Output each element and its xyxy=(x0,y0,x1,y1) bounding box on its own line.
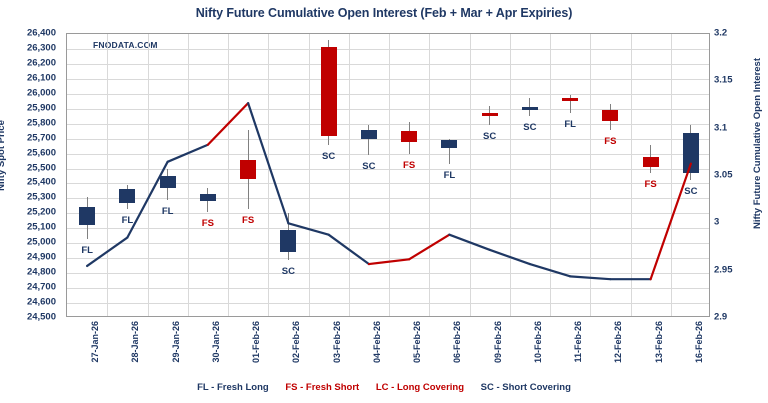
y-axis-tick-label: 24,900 xyxy=(27,252,56,263)
left-axis-title: Nifty Spot Price xyxy=(0,120,7,191)
x-axis-tick-label: 29-Jan-26 xyxy=(171,321,181,363)
y-axis-tick-label: 25,600 xyxy=(27,147,56,158)
oi-line-series xyxy=(67,34,711,318)
y-axis-tick-label: 25,000 xyxy=(27,237,56,248)
x-axis-tick-label: 09-Feb-26 xyxy=(493,321,503,363)
y2-axis-tick-label: 2.9 xyxy=(714,312,727,323)
x-axis-tick-label: 03-Feb-26 xyxy=(332,321,342,363)
chart-root: Nifty Future Cumulative Open Interest (F… xyxy=(0,0,768,403)
chart-legend: FL - Fresh Long FS - Fresh Short LC - Lo… xyxy=(0,382,768,393)
x-axis-tick-label: 01-Feb-26 xyxy=(251,321,261,363)
y-axis-tick-label: 26,300 xyxy=(27,42,56,53)
x-axis-tick-label: 04-Feb-26 xyxy=(372,321,382,363)
x-axis-tick-label: 02-Feb-26 xyxy=(291,321,301,363)
y-axis-tick-label: 25,300 xyxy=(27,192,56,203)
y-axis-tick-label: 24,800 xyxy=(27,267,56,278)
legend-item-fs: FS - Fresh Short xyxy=(285,382,359,393)
y-axis-tick-label: 26,400 xyxy=(27,28,56,39)
y-axis-tick-label: 25,400 xyxy=(27,177,56,188)
plot-area: FNODATA.COM FLFLFLFSFSSCSCSCFSFLSCSCFLFS… xyxy=(66,33,710,317)
y-axis-tick-label: 25,900 xyxy=(27,102,56,113)
y2-axis-tick-label: 2.95 xyxy=(714,264,733,275)
legend-item-lc: LC - Long Covering xyxy=(376,382,464,393)
y-axis-tick-label: 25,700 xyxy=(27,132,56,143)
x-axis-tick-label: 27-Jan-26 xyxy=(90,321,100,363)
x-axis-tick-label: 16-Feb-26 xyxy=(694,321,704,363)
y-axis-tick-label: 25,100 xyxy=(27,222,56,233)
y2-axis-tick-label: 3.2 xyxy=(714,28,727,39)
y-axis-tick-label: 25,500 xyxy=(27,162,56,173)
chart-title: Nifty Future Cumulative Open Interest (F… xyxy=(0,6,768,20)
legend-item-sc: SC - Short Covering xyxy=(481,382,571,393)
x-axis-tick-label: 05-Feb-26 xyxy=(412,321,422,363)
x-axis-tick-label: 12-Feb-26 xyxy=(613,321,623,363)
x-axis-tick-label: 28-Jan-26 xyxy=(130,321,140,363)
y-axis-tick-label: 24,600 xyxy=(27,297,56,308)
y-axis-tick-label: 26,100 xyxy=(27,72,56,83)
y2-axis-tick-label: 3.1 xyxy=(714,122,727,133)
right-axis-title: Nifty Future Cumulative Open Interest xyxy=(752,58,763,229)
y-axis-tick-label: 26,000 xyxy=(27,87,56,98)
y-axis-tick-label: 26,200 xyxy=(27,57,56,68)
x-axis-tick-label: 30-Jan-26 xyxy=(211,321,221,363)
y-axis-tick-label: 24,700 xyxy=(27,282,56,293)
x-axis-tick-label: 10-Feb-26 xyxy=(533,321,543,363)
y2-axis-tick-label: 3 xyxy=(714,217,719,228)
y-axis-tick-label: 25,200 xyxy=(27,207,56,218)
x-axis-tick-label: 13-Feb-26 xyxy=(654,321,664,363)
x-axis-tick-label: 06-Feb-26 xyxy=(452,321,462,363)
y-axis-tick-label: 24,500 xyxy=(27,312,56,323)
legend-item-fl: FL - Fresh Long xyxy=(197,382,269,393)
y2-axis-tick-label: 3.15 xyxy=(714,75,733,86)
x-axis-tick-label: 11-Feb-26 xyxy=(573,321,583,363)
y-axis-tick-label: 25,800 xyxy=(27,117,56,128)
y2-axis-tick-label: 3.05 xyxy=(714,170,733,181)
